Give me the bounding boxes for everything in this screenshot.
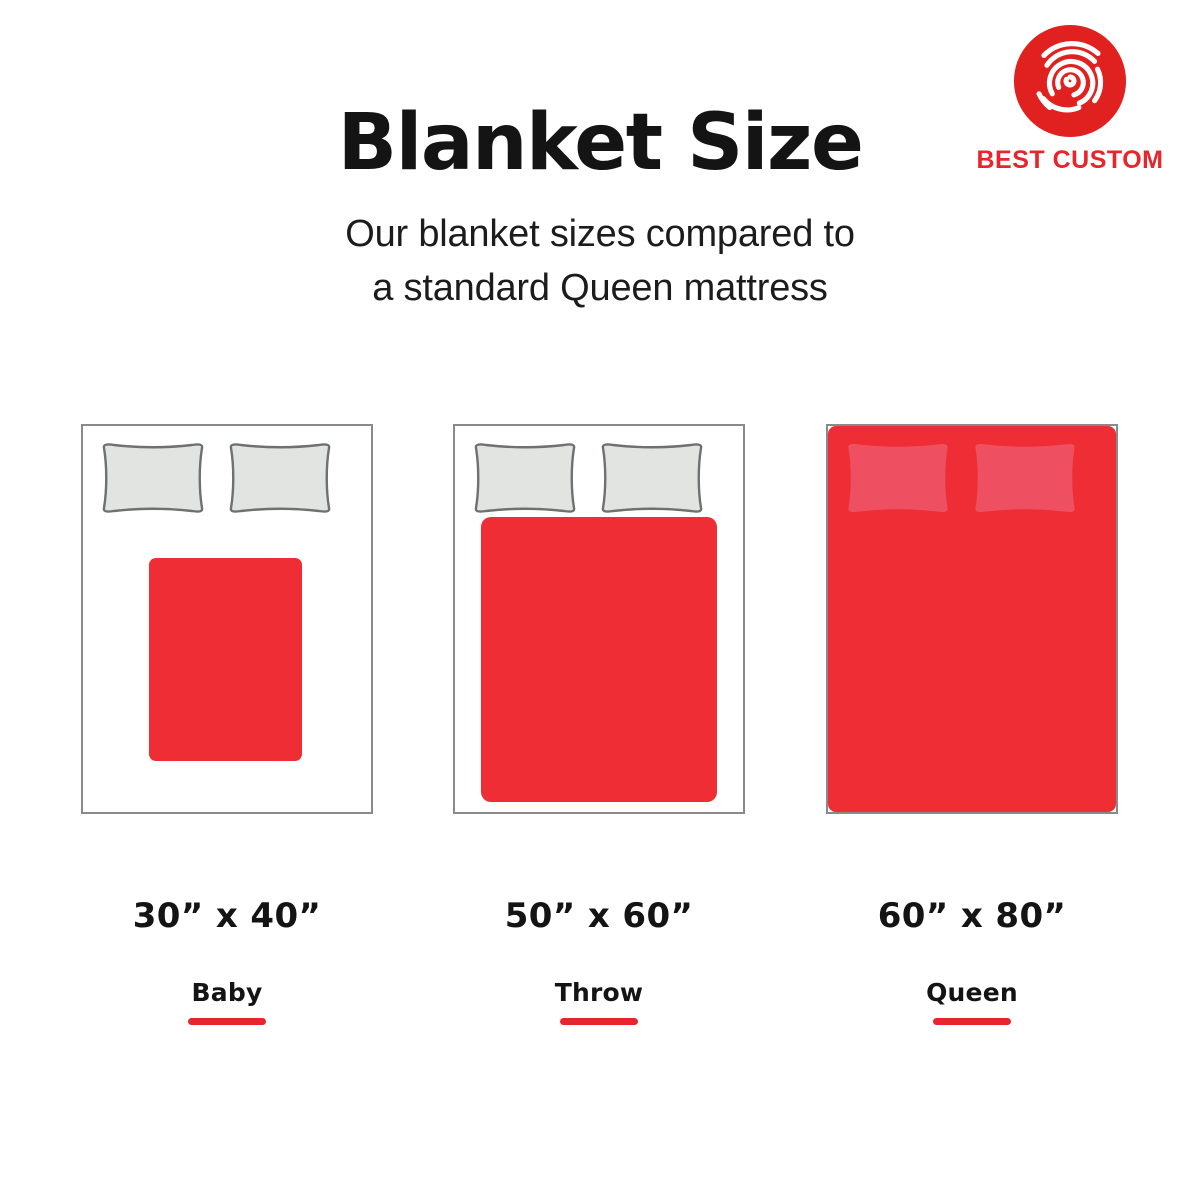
page-subtitle: Our blanket sizes compared to a standard…	[0, 208, 1200, 316]
subtitle-line-1: Our blanket sizes compared to	[0, 208, 1200, 262]
caption-queen: 60” x 80” Queen	[826, 896, 1118, 1025]
page-title: Blanket Size	[0, 104, 1200, 182]
dimensions-label-baby: 30” x 40”	[81, 896, 373, 936]
size-name-baby: Baby	[81, 978, 373, 1007]
pillow-right-throw	[599, 442, 704, 514]
caption-baby: 30” x 40” Baby	[81, 896, 373, 1025]
bed-comparison-row	[0, 424, 1200, 816]
bed-diagram-baby	[81, 424, 373, 814]
size-name-queen: Queen	[826, 978, 1118, 1007]
caption-throw: 50” x 60” Throw	[453, 896, 745, 1025]
blanket-baby	[149, 558, 302, 761]
pillow-left-throw	[472, 442, 577, 514]
blanket-throw	[481, 517, 717, 802]
subtitle-line-2: a standard Queen mattress	[0, 262, 1200, 316]
accent-rule-queen	[933, 1018, 1011, 1025]
dimensions-label-queen: 60” x 80”	[826, 896, 1118, 936]
caption-row: 30” x 40” Baby 50” x 60” Throw 60” x 80”…	[0, 896, 1200, 1056]
infographic-canvas: BEST CUSTOM Blanket Size Our blanket siz…	[0, 0, 1200, 1200]
bed-diagram-throw	[453, 424, 745, 814]
accent-rule-throw	[560, 1018, 638, 1025]
size-name-throw: Throw	[453, 978, 745, 1007]
heading-block: Blanket Size Our blanket sizes compared …	[0, 104, 1200, 316]
bed-diagram-queen	[826, 424, 1118, 814]
pillow-right-baby	[227, 442, 332, 514]
pillow-left-baby	[100, 442, 205, 514]
dimensions-label-throw: 50” x 60”	[453, 896, 745, 936]
pillow-right-queen	[972, 442, 1077, 514]
pillow-left-queen	[845, 442, 950, 514]
accent-rule-baby	[188, 1018, 266, 1025]
